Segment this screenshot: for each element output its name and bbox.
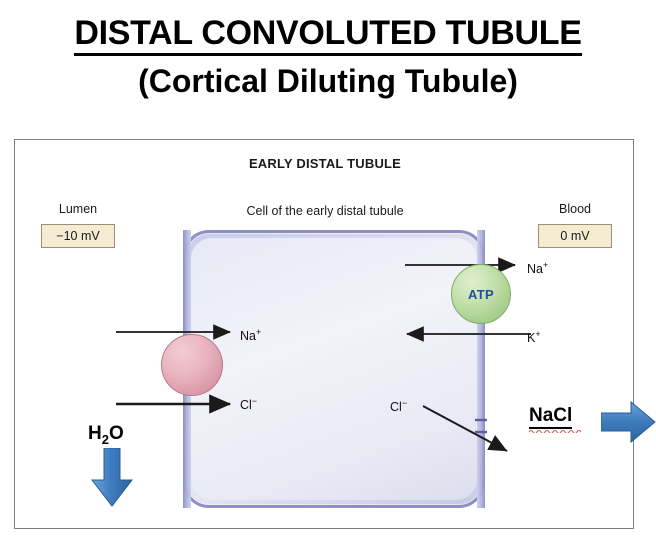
lumen-voltage-box: −10 mV [41,224,115,248]
apical-cl-label: Cl− [240,396,257,412]
tubule-cell-body [183,230,485,508]
spellcheck-squiggle-icon [529,429,581,433]
water-flow-arrow-icon [90,448,134,508]
blood-label: Blood [542,202,608,216]
basolateral-cl-label: Cl− [390,398,407,414]
na-k-atpase-icon: ATP [451,264,511,324]
page-title: DISTAL CONVOLUTED TUBULE [74,16,581,56]
basolateral-na-label: Na+ [527,260,548,276]
diagram-header: EARLY DISTAL TUBULE [15,156,635,171]
lumen-label: Lumen [45,202,111,216]
water-h: H [88,423,102,444]
nacl-flow-arrow-icon [601,400,656,444]
blood-voltage-box: 0 mV [538,224,612,248]
water-label: H2O [88,423,124,447]
basolateral-na-text: Na [527,262,543,276]
nacl-label: NaCl [529,405,572,429]
cell-inner-sheen [191,238,477,500]
page-subtitle: (Cortical Diluting Tubule) [0,64,656,99]
apical-na-text: Na [240,329,256,343]
apical-na-charge: + [256,327,261,337]
apical-cl-text: Cl [240,398,252,412]
nacl-cotransporter-icon [161,334,223,396]
basolateral-k-label: K+ [527,329,541,345]
water-subscript: 2 [102,432,109,447]
basolateral-cl-text: Cl [390,400,402,414]
apical-na-label: Na+ [240,327,261,343]
apical-cl-charge: − [252,396,257,406]
basolateral-k-charge: + [535,329,540,339]
basolateral-cl-charge: − [402,398,407,408]
basolateral-na-charge: + [543,260,548,270]
page-title-block: DISTAL CONVOLUTED TUBULE (Cortical Dilut… [0,0,656,99]
water-o: O [109,423,124,444]
atp-label: ATP [468,287,494,302]
